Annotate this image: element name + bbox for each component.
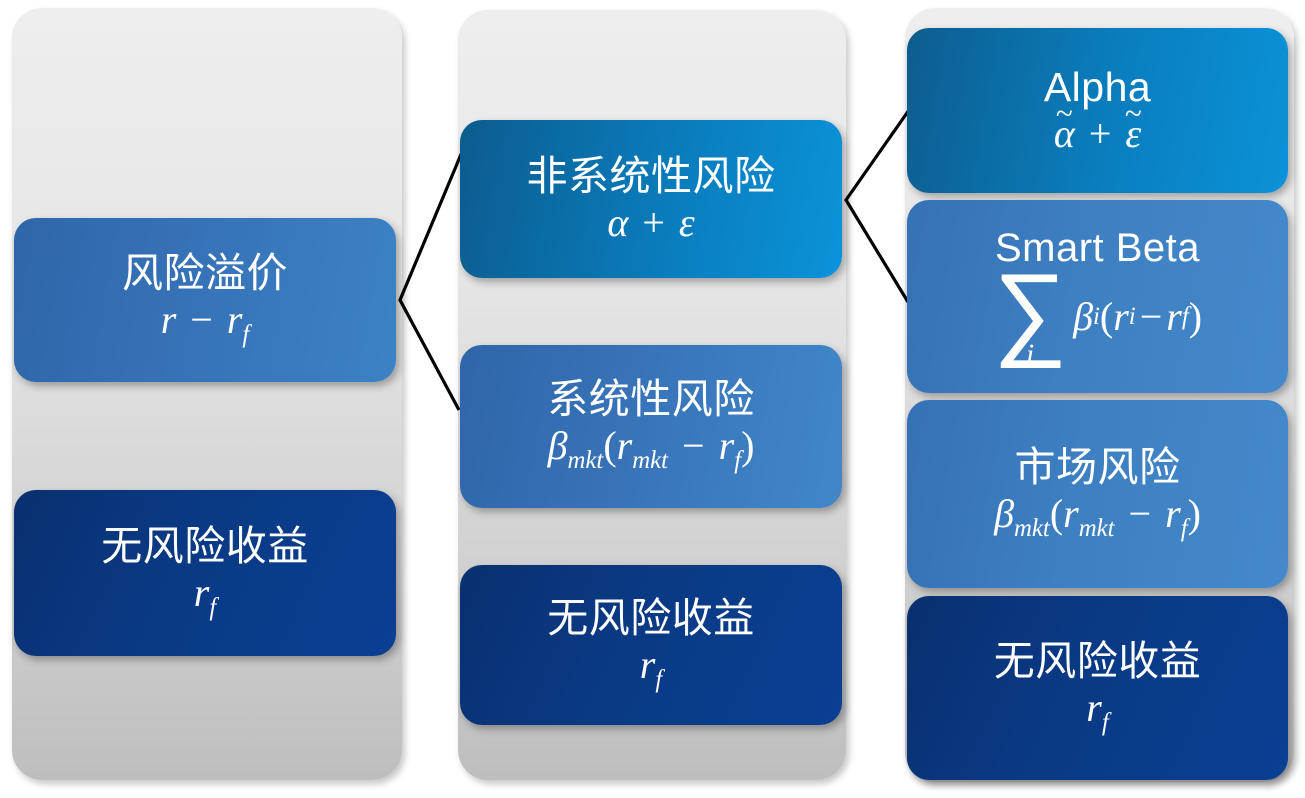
node-formula-unsystematic: α + ε: [607, 203, 694, 243]
node-title: 风险溢价: [122, 253, 288, 294]
node-systematic-risk[interactable]: 系统性风险 βmkt(rmkt − rf): [460, 345, 842, 508]
node-formula-risk-premium: r − rf: [161, 300, 250, 348]
node-title: 系统性风险: [547, 379, 755, 420]
node-formula-market-risk: βmkt(rmkt − rf): [994, 494, 1201, 542]
node-title: 市场风险: [1015, 447, 1181, 488]
node-unsystematic-risk[interactable]: 非系统性风险 α + ε: [460, 120, 842, 278]
node-formula-risk-free-left: rf: [194, 573, 216, 621]
diagram-canvas: 风险溢价 r − rf 无风险收益 rf 非系统性风险 α + ε 系统性风险 …: [0, 0, 1305, 798]
node-title: 无风险收益: [101, 526, 309, 567]
connector-risk-premium-fan: [400, 152, 462, 410]
node-formula-alpha: α~ + ε~: [1054, 114, 1141, 154]
node-risk-free-return-left[interactable]: 无风险收益 rf: [14, 490, 396, 656]
node-alpha[interactable]: Alpha α~ + ε~: [907, 28, 1288, 193]
panel-level-1: [12, 8, 402, 780]
node-risk-free-return-middle[interactable]: 无风险收益 rf: [460, 565, 842, 725]
node-market-risk[interactable]: 市场风险 βmkt(rmkt − rf): [907, 400, 1288, 588]
summation-icon: ∑ i: [993, 268, 1067, 368]
connector-unsystematic-fan: [846, 110, 909, 302]
node-formula-risk-free-middle: rf: [640, 645, 662, 693]
node-risk-premium[interactable]: 风险溢价 r − rf: [14, 218, 396, 382]
node-title: 无风险收益: [994, 641, 1202, 682]
node-title: 非系统性风险: [527, 156, 776, 197]
node-title: 无风险收益: [547, 598, 755, 639]
node-formula-systematic: βmkt(rmkt − rf): [548, 426, 755, 474]
node-formula-smart-beta: ∑ i βi(ri − rf): [993, 268, 1202, 368]
node-risk-free-return-right[interactable]: 无风险收益 rf: [907, 596, 1288, 780]
node-formula-risk-free-right: rf: [1086, 688, 1108, 736]
node-smart-beta[interactable]: Smart Beta ∑ i βi(ri − rf): [907, 200, 1288, 393]
